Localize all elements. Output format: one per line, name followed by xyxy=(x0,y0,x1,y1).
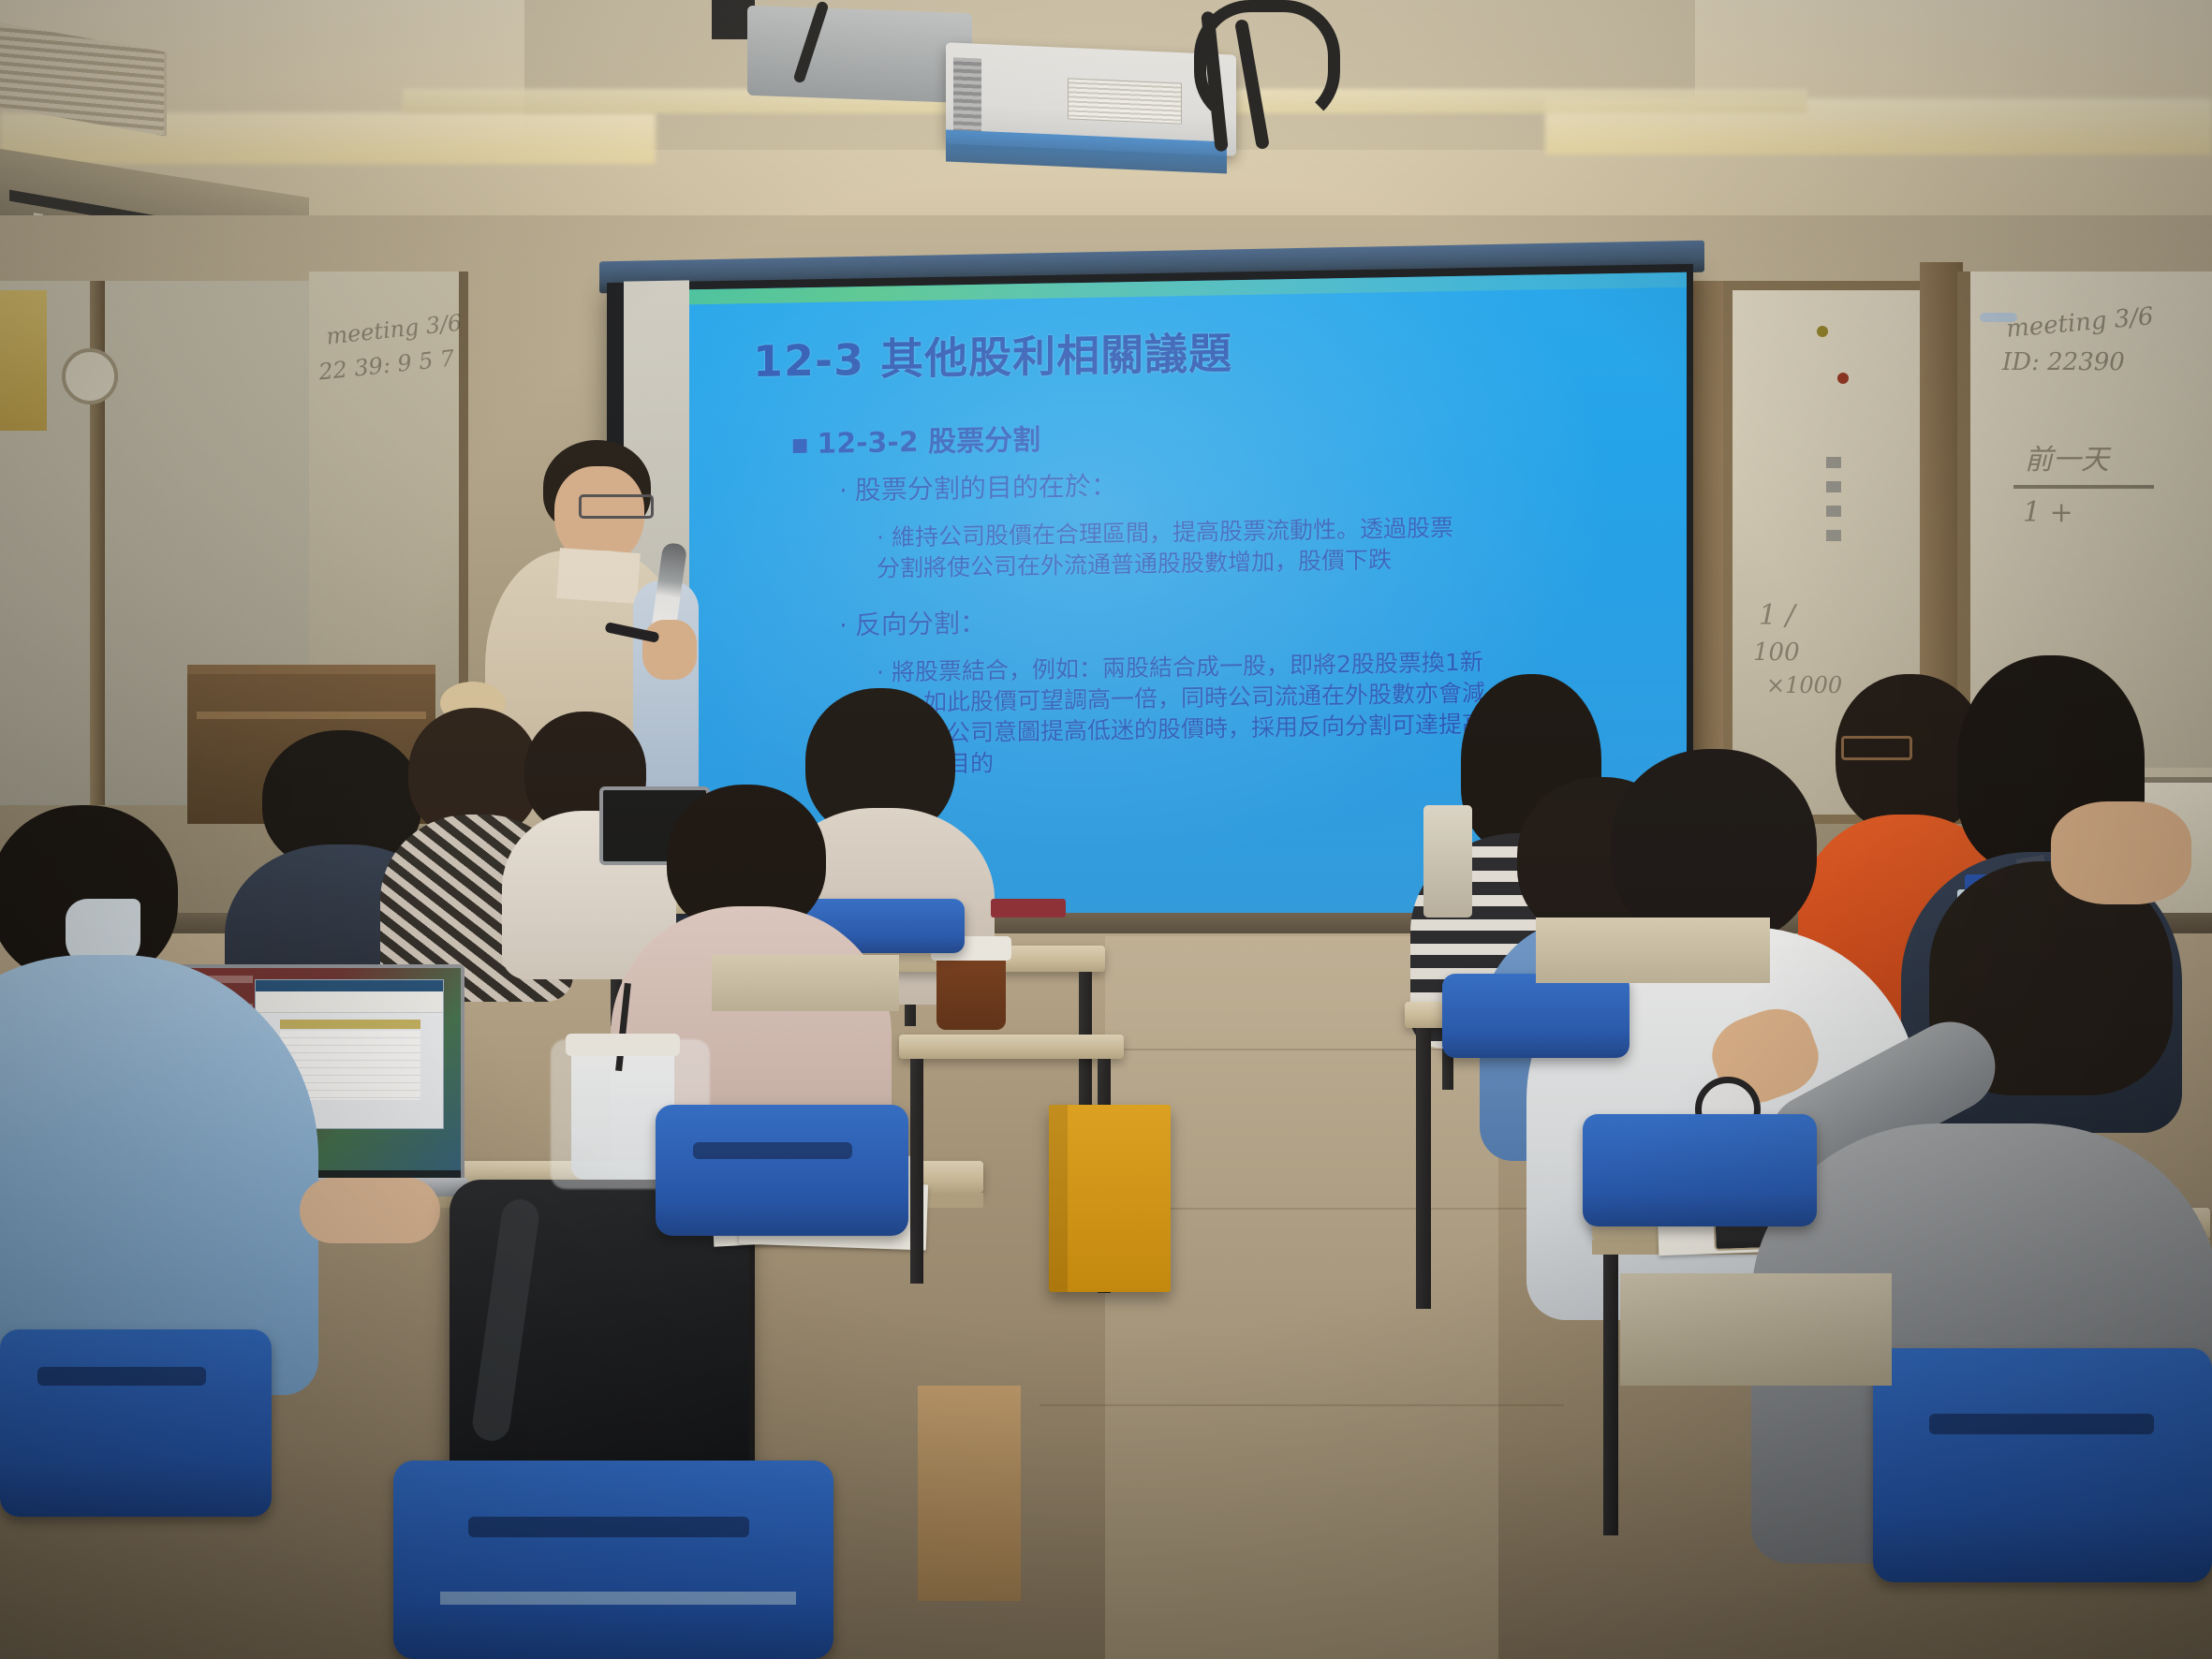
whiteboard-right-line2: ID: 22390 xyxy=(2002,348,2125,376)
chair-right-front[interactable] xyxy=(1873,1348,2212,1582)
chair-right-back[interactable] xyxy=(1442,974,1630,1058)
classroom-photo: meeting 3/6 22 39: 9 5 7 1 / 100 ×1000 m… xyxy=(0,0,2212,1659)
slide-bullet-l3-1: ·維持公司股價在合理區間，提高股票流動性。透過股票分割將使公司在外流通普通股股數… xyxy=(877,512,1476,584)
stationery-tray xyxy=(991,899,1066,918)
bullet-marker-dot: · xyxy=(839,474,848,508)
student-hand-right xyxy=(2051,801,2191,904)
slide-bullet-text: 股票分割的目的在於： xyxy=(855,470,1117,506)
slide-bullet-text: 維持公司股價在合理區間，提高股票流動性。透過股票分割將使公司在外流通普通股股數增… xyxy=(877,514,1453,582)
whiteboard-door-line1: 1 / xyxy=(1759,599,1795,632)
poster-left xyxy=(0,290,47,431)
whiteboard-door-line2: 100 xyxy=(1753,639,1800,667)
whiteboard-door-line3: ×1000 xyxy=(1766,672,1842,698)
whiteboard-right-line4: 1 + xyxy=(2023,496,2073,529)
whiteboard-fraction-bar xyxy=(2013,485,2154,489)
whiteboard-marker-tray xyxy=(1980,313,2017,322)
iced-drink-cup-lid xyxy=(566,1034,680,1056)
chair-row2-right[interactable] xyxy=(656,1105,908,1236)
thermos-cup xyxy=(1423,805,1472,918)
bullet-marker-dot: · xyxy=(839,609,848,643)
spreadsheet-header-row xyxy=(280,1020,420,1029)
projector-body-rear xyxy=(747,6,972,103)
chair-front-center-frame xyxy=(440,1592,796,1605)
desk-row2-right xyxy=(899,1035,1124,1059)
cardboard-box xyxy=(918,1386,1021,1601)
door-dot-red xyxy=(1837,373,1849,384)
slide-bullet-l3-2: ·將股票結合，例如：兩股結合成一股，即將2股股票換1新股，如此股價可望調高一倍，… xyxy=(877,646,1495,781)
whiteboard-right-line3: 前一天 xyxy=(2025,436,2109,477)
bullet-marker-dot: · xyxy=(877,657,884,688)
spreadsheet-ribbon xyxy=(256,991,443,1013)
chair-right-mid[interactable] xyxy=(1583,1114,1817,1226)
whiteboard-left-line2: 22 39: 9 5 7 xyxy=(317,345,456,385)
projector-vent-grille xyxy=(953,57,981,131)
chair-front-left[interactable] xyxy=(0,1329,272,1517)
slide-title: 12-3 其他股利相關議題 xyxy=(753,319,1232,389)
door-lock-screws xyxy=(1826,457,1841,541)
slide-bullet-l1-1: ▪12-3-2 股票分割 xyxy=(790,422,1040,463)
whiteboard-left-line1: meeting 3/6 xyxy=(325,309,464,349)
student-hair xyxy=(1611,749,1817,946)
slide-bullet-l2-1: ·股票分割的目的在於： xyxy=(839,469,1117,508)
student-glasses xyxy=(1841,736,1912,760)
spreadsheet-titlebar xyxy=(256,980,443,991)
chair-front-center[interactable] xyxy=(393,1461,833,1659)
slide-bullet-l2-2: ·反向分割： xyxy=(839,607,986,644)
desk-left-lower-panel xyxy=(712,955,899,1011)
door-dot-yellow xyxy=(1817,326,1828,337)
projector-cable-loop xyxy=(1194,0,1340,127)
presenter-collar xyxy=(556,548,641,604)
desk-center-lower-panel xyxy=(1536,918,1770,983)
whiteboard-right-line1: meeting 3/6 xyxy=(2005,302,2155,344)
slide-bullet-text: 反向分割： xyxy=(855,608,986,640)
yellow-paper-bag-fold xyxy=(1049,1105,1068,1292)
slide-bullet-text: 將股票結合，例如：兩股結合成一股，即將2股股票換1新股，如此股價可望調高一倍，同… xyxy=(877,648,1485,778)
presenter-hand xyxy=(642,620,697,680)
bullet-marker-square: ▪ xyxy=(790,426,809,463)
wall-clock xyxy=(62,348,118,404)
bullet-marker-dot: · xyxy=(877,522,884,553)
presenter-glasses xyxy=(579,494,654,519)
slide-bullet-text: 12-3-2 股票分割 xyxy=(817,424,1040,461)
cabinet-shelf xyxy=(197,712,426,719)
desk-right-lower-panel xyxy=(1620,1273,1892,1386)
projector-label xyxy=(1068,78,1182,124)
student-hand-on-laptop xyxy=(300,1178,440,1243)
